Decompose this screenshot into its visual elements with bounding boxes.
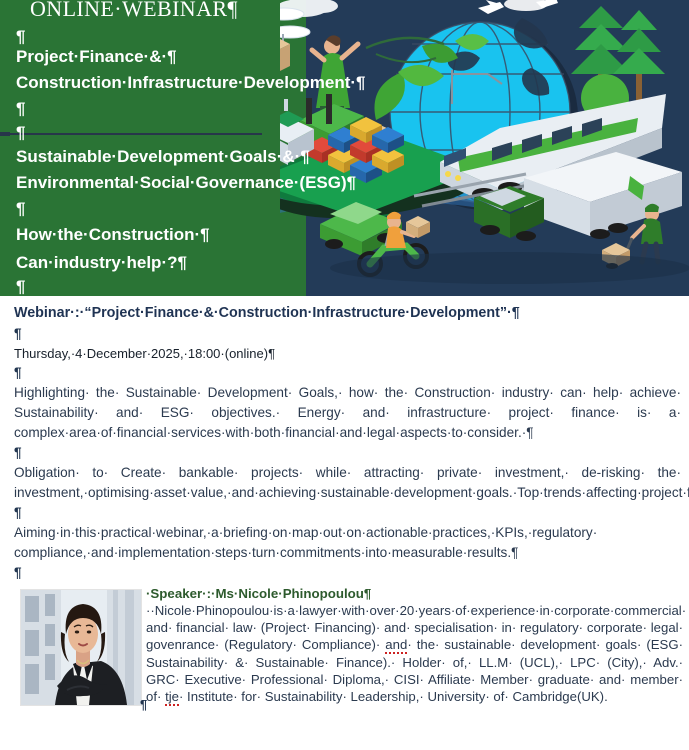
pilcrow-mark: ¶ — [16, 100, 25, 117]
pilcrow-mark: ¶ — [140, 697, 147, 712]
banner-subtitle-line-2: Environmental·Social·Governance·(ESG)¶ — [16, 174, 356, 191]
paragraph-obligation-part-1: Obligation· to· Create· bankable· projec… — [14, 465, 689, 500]
paragraph-aiming: Aiming·in·this·practical·webinar,·a·brie… — [0, 523, 689, 563]
spellcheck-error-tje: tje — [165, 689, 179, 706]
webinar-banner: ONLINE·WEBINAR¶ ¶ Project·Finance·&·¶ Co… — [0, 0, 689, 296]
pilcrow-mark: ¶ — [0, 443, 689, 463]
webinar-date: Thursday,·4·December·2025,·18:00·(online… — [0, 344, 689, 363]
pilcrow-mark: ¶ — [0, 503, 689, 523]
spellcheck-error-and: and — [385, 637, 407, 654]
paragraph-obligation: Obligation· to· Create· bankable· projec… — [0, 463, 689, 503]
pilcrow-mark: ¶ — [16, 124, 25, 141]
pilcrow-mark: ¶ — [16, 200, 25, 217]
banner-kicker: ONLINE·WEBINAR¶ — [30, 0, 238, 20]
speaker-name-heading: ·Speaker·:·Ms·Nicole·Phinopoulou¶ — [146, 585, 683, 602]
speaker-bio: ··Nicole·Phinopoulou·is·a·lawyer·with·ov… — [146, 602, 683, 705]
document-body: Webinar·:·“Project·Finance·&·Constructio… — [0, 296, 689, 709]
banner-title-line-1: Project·Finance·&·¶ — [16, 48, 177, 65]
paragraph-highlighting: Highlighting· the· Sustainable· Developm… — [0, 383, 689, 443]
document-page: ONLINE·WEBINAR¶ ¶ Project·Finance·&·¶ Co… — [0, 0, 689, 750]
pilcrow-mark: ¶ — [16, 278, 25, 295]
banner-text-block: ONLINE·WEBINAR¶ ¶ Project·Finance·&·¶ Co… — [0, 0, 460, 296]
speaker-bio-part-3: · Institute· for· Sustainability· Leader… — [179, 689, 608, 704]
pilcrow-glyph: ¶ — [14, 505, 22, 520]
pilcrow-glyph: ¶ — [14, 326, 22, 341]
speaker-block: ·Speaker·:·Ms·Nicole·Phinopoulou¶ ··Nico… — [0, 585, 689, 709]
speaker-text: ·Speaker·:·Ms·Nicole·Phinopoulou¶ ··Nico… — [146, 585, 683, 705]
pilcrow-mark: ¶ — [16, 28, 25, 45]
pilcrow-mark: ¶ — [0, 363, 689, 383]
pilcrow-glyph: ¶ — [14, 365, 22, 380]
pilcrow-glyph: ¶ — [14, 445, 22, 460]
banner-question-line-2: Can·industry·help·?¶ — [16, 254, 187, 271]
banner-question-line-1: How·the·Construction·¶ — [16, 226, 210, 243]
banner-subtitle-line-1: Sustainable·Development·Goals·&·¶ — [16, 148, 310, 165]
webinar-heading: Webinar·:·“Project·Finance·&·Constructio… — [0, 302, 689, 324]
pilcrow-mark: ¶ — [0, 563, 689, 583]
pilcrow-mark: ¶ — [0, 324, 689, 344]
speaker-photo — [20, 589, 142, 706]
pilcrow-glyph: ¶ — [14, 565, 22, 580]
banner-title-line-2: Construction·Infrastructure·Development·… — [16, 74, 365, 91]
